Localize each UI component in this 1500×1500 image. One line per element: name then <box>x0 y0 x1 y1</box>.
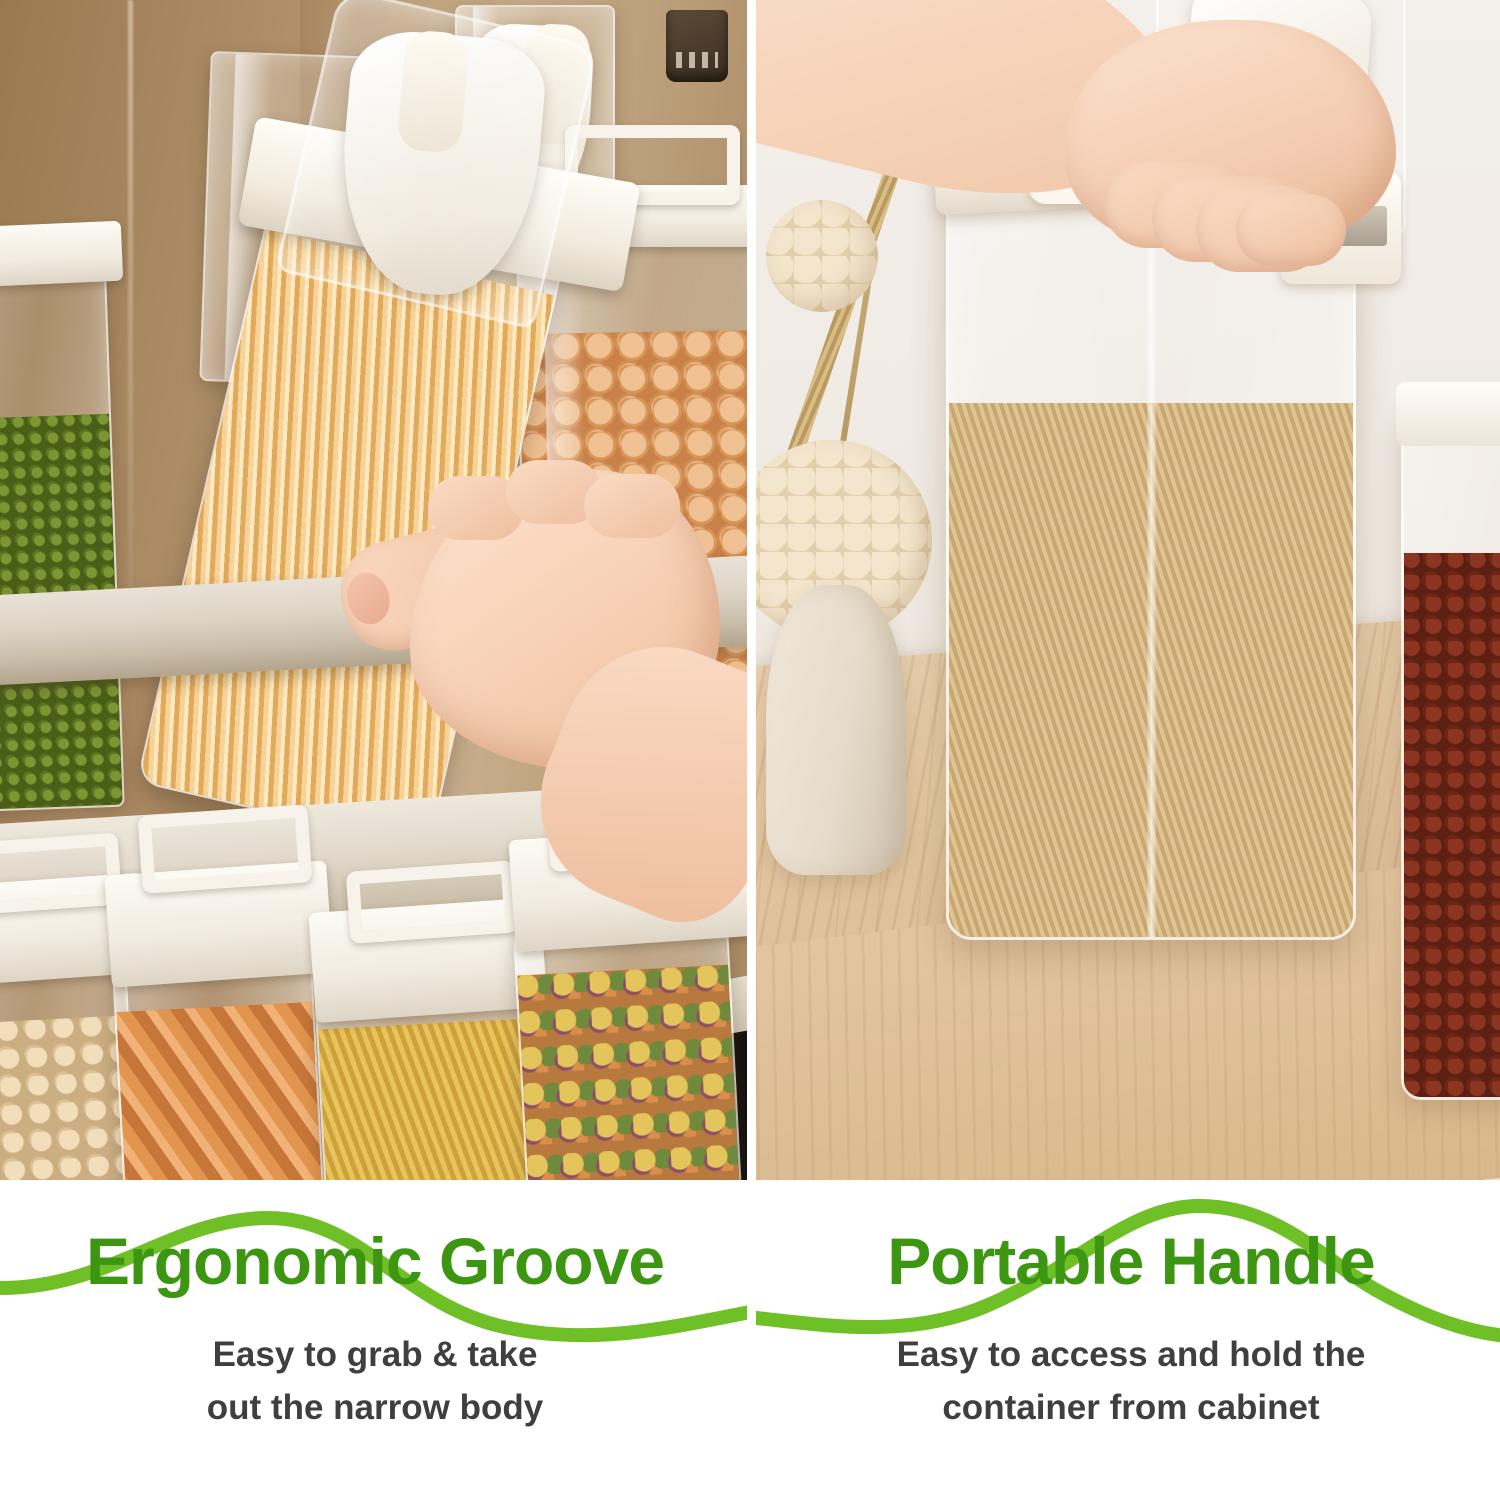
cabinet-corner-edge <box>128 0 133 600</box>
mung-bean-jar <box>0 247 125 813</box>
rotini-jar <box>513 925 742 1180</box>
subtitle-left: Easy to grab & take out the narrow body <box>207 1328 543 1434</box>
caption-left: Ergonomic Groove Easy to grab & take out… <box>0 1180 750 1500</box>
hand-lifting-handle <box>906 0 1426 320</box>
cabinet-latch-icon <box>666 10 728 82</box>
subtitle-left-line-2: out the narrow body <box>207 1381 543 1434</box>
subtitle-right-line-2: container from cabinet <box>897 1381 1366 1434</box>
dried-flower-small <box>766 200 878 312</box>
chickpea-jar-handle <box>0 833 122 916</box>
photo-table-top <box>756 0 1500 1180</box>
caption-right: Portable Handle Easy to access and hold … <box>756 1180 1500 1500</box>
adzuki-bean-jar <box>1401 410 1500 1100</box>
penne-jar <box>112 960 324 1180</box>
hand-finger-pinky <box>1236 194 1346 266</box>
penne-jar-handle <box>137 804 312 894</box>
subtitle-left-line-1: Easy to grab & take <box>207 1328 543 1381</box>
hand-grabbing-groove <box>300 440 730 910</box>
ceramic-vase <box>766 585 906 875</box>
panel-right-portable-handle: Portable Handle Easy to access and hold … <box>750 0 1500 1500</box>
panel-left-ergonomic-groove: Ergonomic Groove Easy to grab & take out… <box>0 0 750 1500</box>
adzuki-bean-jar-lid <box>1396 382 1500 446</box>
hand-knuckle <box>584 474 680 538</box>
headline-portable-handle: Portable Handle <box>887 1228 1374 1294</box>
product-feature-infographic: Ergonomic Groove Easy to grab & take out… <box>0 0 1500 1500</box>
photo-cabinet-shelf <box>0 0 750 1180</box>
rotini-contents <box>517 965 739 1180</box>
subtitle-right-line-1: Easy to access and hold the <box>897 1328 1366 1381</box>
headline-ergonomic-groove: Ergonomic Groove <box>86 1228 664 1294</box>
panel-divider <box>747 0 754 1500</box>
mung-bean-jar-lid <box>0 221 123 290</box>
subtitle-right: Easy to access and hold the container fr… <box>897 1328 1366 1434</box>
adzuki-bean-contents <box>1404 553 1500 1097</box>
